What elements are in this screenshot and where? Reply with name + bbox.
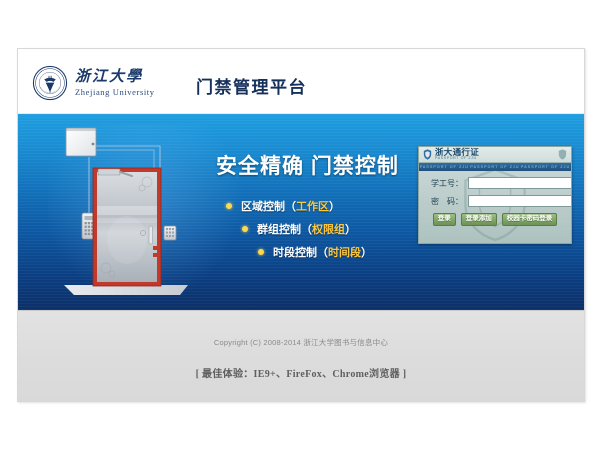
login-form: 学工号： 密 码： 登录 登录添加 校园卡密码登录 — [419, 171, 571, 226]
feature-accent: 工作区 — [296, 198, 329, 214]
feature-tail: ） — [361, 244, 372, 260]
banner-slogan: 安全精确 门禁控制 — [216, 150, 416, 180]
login-add-button[interactable]: 登录添加 — [461, 213, 497, 226]
feature-item-area-control: 区域控制（ 工作区 ） — [226, 198, 416, 214]
login-button[interactable]: 登录 — [433, 213, 456, 226]
feature-item-group-control: 群组控制（ 权限组 ） — [242, 221, 416, 237]
site-footer: Copyright (C) 2008-2014 浙江大学图书与信息中心 [ 最佳… — [18, 310, 584, 401]
feature-label: 群组控制（ — [257, 221, 312, 237]
strip-text: PASSPORT OF ZJU — [470, 165, 519, 169]
bullet-dot-icon — [258, 249, 264, 255]
campus-card-login-button[interactable]: 校园卡密码登录 — [502, 213, 558, 226]
password-input[interactable] — [468, 195, 572, 207]
browser-support-note: [ 最佳体验：IE9+、FireFox、Chrome浏览器 ] — [18, 365, 584, 380]
bullet-dot-icon — [226, 203, 232, 209]
login-row-password: 密 码： — [425, 195, 565, 207]
hero-banner: 安全精确 门禁控制 区域控制（ 工作区 ） 群组控制（ 权限组 ） 时段控制（ — [18, 114, 584, 310]
login-panel-title-en: PASSPORT OF ZJU — [435, 157, 479, 161]
login-row-userid: 学工号： — [425, 177, 565, 189]
strip-text: PASSPORT OF ZJU — [420, 165, 469, 169]
university-name-en: Zhejiang University — [75, 88, 155, 97]
university-name-cn: 浙江大學 — [75, 70, 155, 85]
university-logo[interactable]: 浙江大學 Zhejiang University — [32, 65, 155, 101]
shield-icon — [558, 149, 567, 160]
access-control-door-illustration — [48, 122, 208, 310]
feature-accent: 权限组 — [312, 221, 345, 237]
zju-seal-icon — [32, 65, 68, 101]
feature-tail: ） — [329, 198, 340, 214]
login-panel-strip: PASSPORT OF ZJU PASSPORT OF ZJU PASSPORT… — [419, 163, 571, 171]
userid-input[interactable] — [468, 177, 572, 189]
feature-accent: 时间段 — [328, 244, 361, 260]
login-panel-title: 浙大通行证 — [435, 148, 479, 157]
page-card: 浙江大學 Zhejiang University 门禁管理平台 — [17, 48, 585, 402]
login-panel[interactable]: 浙大通行证 PASSPORT OF ZJU PASSPORT OF ZJU PA… — [418, 146, 572, 244]
university-name-block: 浙江大學 Zhejiang University — [75, 70, 155, 97]
copyright-text: Copyright (C) 2008-2014 浙江大学图书与信息中心 — [18, 311, 584, 348]
feature-label: 时段控制（ — [273, 244, 328, 260]
bullet-dot-icon — [242, 226, 248, 232]
app-screen: 浙江大學 Zhejiang University 门禁管理平台 — [0, 0, 600, 450]
userid-label: 学工号： — [425, 178, 463, 189]
login-button-row: 登录 登录添加 校园卡密码登录 — [425, 213, 565, 226]
feature-label: 区域控制（ — [241, 198, 296, 214]
shield-icon — [423, 149, 432, 160]
password-label: 密 码： — [425, 196, 463, 207]
page-title: 门禁管理平台 — [196, 73, 307, 98]
site-header: 浙江大學 Zhejiang University 门禁管理平台 — [18, 49, 584, 114]
feature-tail: ） — [345, 221, 356, 237]
strip-text: PASSPORT OF ZJU — [521, 165, 570, 169]
login-panel-header: 浙大通行证 PASSPORT OF ZJU — [419, 147, 571, 163]
feature-item-time-control: 时段控制（ 时间段 ） — [258, 244, 416, 260]
banner-text-block: 安全精确 门禁控制 区域控制（ 工作区 ） 群组控制（ 权限组 ） 时段控制（ — [216, 150, 416, 267]
